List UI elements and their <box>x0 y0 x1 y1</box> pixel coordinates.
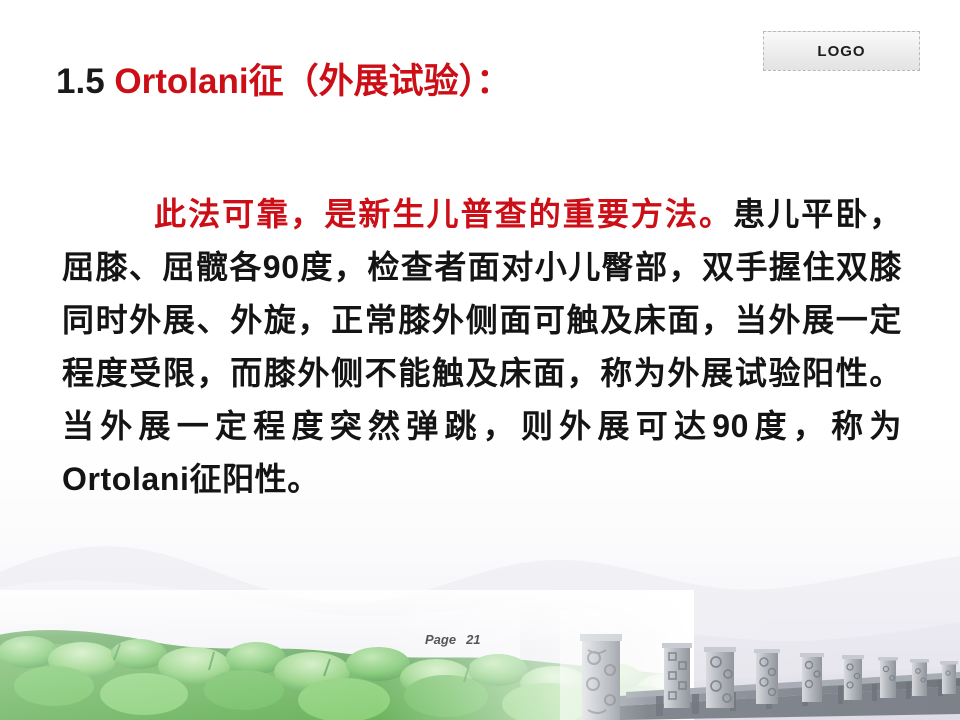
body-highlight-text: 此法可靠，是新生儿普查的重要方法。 <box>154 196 733 232</box>
page-title: 1.5 Ortolani征（外展试验）： <box>56 61 511 102</box>
page-number: 21 <box>466 632 480 647</box>
body-paragraph: 此法可靠，是新生儿普查的重要方法。患儿平卧，屈膝、屈髋各90度，检查者面对小儿臀… <box>62 188 902 506</box>
page-footer: Page 21 <box>425 632 481 647</box>
title-number: 1.5 <box>56 62 105 101</box>
page-label: Page <box>425 632 456 647</box>
body-main-text: 患儿平卧，屈膝、屈髋各90度，检查者面对小儿臀部，双手握住双膝同时外展、外旋，正… <box>62 196 902 497</box>
background-stone-railing-icon <box>560 610 960 720</box>
slide-canvas: LOGO 1.5 Ortolani征（外展试验）： 此法可靠，是新生儿普查的重要… <box>0 0 960 720</box>
logo-placeholder: LOGO <box>763 31 920 71</box>
logo-label: LOGO <box>817 43 865 60</box>
title-heading: Ortolani征（外展试验）： <box>114 62 511 101</box>
